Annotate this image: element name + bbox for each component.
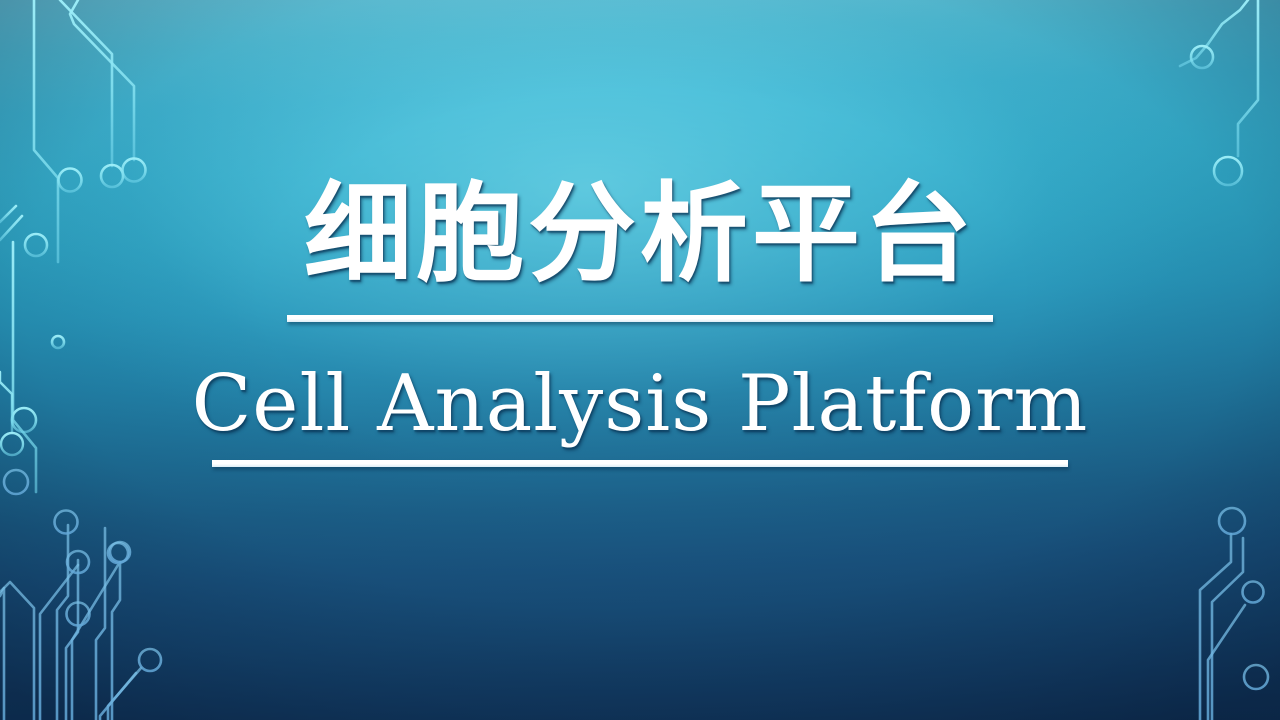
secondary-title-block: Cell Analysis Platform	[192, 364, 1089, 467]
title-underline-rule	[287, 315, 993, 322]
title-slide: 细胞分析平台 Cell Analysis Platform	[0, 0, 1280, 720]
primary-title-block: 细胞分析平台	[287, 176, 993, 322]
page-title: 细胞分析平台	[304, 176, 976, 293]
title-content: 细胞分析平台 Cell Analysis Platform	[0, 0, 1280, 720]
page-subtitle: Cell Analysis Platform	[192, 364, 1089, 446]
subtitle-underline-rule	[212, 460, 1068, 467]
